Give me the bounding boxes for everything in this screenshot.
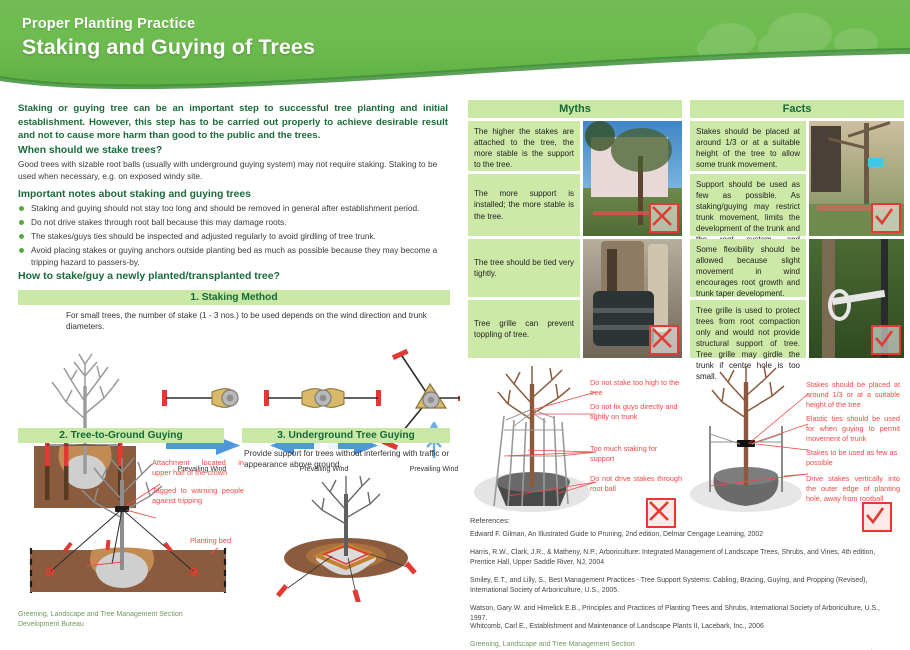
intro-paragraph: Staking or guying tree can be an importa… [18,102,448,143]
section-2-annotation-2-wrap: Tagged to warning people against trippin… [152,486,244,506]
cross-mark-icon [649,325,679,355]
myth-item-1: The higher the stakes are attached to th… [468,121,580,171]
section-1-title: 1. Staking Method [18,290,450,305]
bad-practice-cross-mark-icon [646,498,676,528]
underground-guying-diagram [244,472,450,602]
references-label: References: [470,516,510,525]
list-item: Do not drive stakes through root ball be… [18,216,454,228]
myth-item-3: The tree should be tied very tightly. [468,239,580,297]
reference-item-4: Watson, Gary W. and Himelick E.B., Princ… [470,604,898,624]
myth-photo-tall-stakes [583,121,682,236]
reference-item-2: Harris, R.W., Clark, J.R., & Matheny, N.… [470,548,898,568]
section-2-annotation-3: Planting bed [190,536,250,546]
check-mark-icon [871,203,901,233]
myths-panel-title: Myths [468,100,682,118]
left-footer-line-1: Greening, Landscape and Tree Management … [18,610,183,620]
section-3-caption: Provide support for trees without interf… [244,448,450,471]
fact-photo-correct-staking [809,121,904,236]
left-footer-line-2: Development Bureau [18,620,183,630]
section-3-title: 3. Underground Tree Guying [242,428,450,443]
right-footer: Greening, Landscape and Tree Management … [470,640,635,650]
section-2-annotation-3-wrap: Planting bed [190,536,250,546]
important-notes-list: Staking and guying should not stay too l… [18,202,454,270]
good-annotation-4: Drive stakes vertically into the outer e… [806,474,900,504]
good-practice-check-mark-icon [862,502,892,532]
fact-item-4: Tree grille is used to protect trees fro… [690,300,806,358]
left-footer: Greening, Landscape and Tree Management … [18,610,183,629]
list-item: Staking and guying should not stay too l… [18,202,454,214]
when-stake-heading: When should we stake trees? [18,145,448,156]
header-text-block: Proper Planting Practice Staking and Guy… [22,16,315,60]
bullet-text: Staking and guying should not stay too l… [31,203,419,213]
fact-item-3: Some flexibility should be allowed becau… [690,239,806,297]
bad-annotation-1: Do not stake too high to the tree [590,378,682,398]
bullet-dot-icon [19,234,24,239]
how-to-stake-heading: How to stake/guy a newly planted/transpl… [18,270,448,282]
facts-panel-title: Facts [690,100,904,118]
section-2-title: 2. Tree-to-Ground Guying [18,428,224,443]
good-annotation-3: Stakes to be used as few as possible [806,448,900,468]
reference-item-5: Whitcomb, Carl E., Establishment and Mai… [470,622,898,632]
bullet-text: Do not drive stakes through root ball be… [31,217,287,227]
good-annotation-1: Stakes should be placed at around 1/3 or… [806,380,900,410]
right-footer-line-1: Greening, Landscape and Tree Management … [470,640,635,650]
right-column: Myths Facts The higher the stakes are at… [462,92,910,650]
section-2-annotation-1: Attachment located in upper half of the … [152,458,244,478]
list-item: Avoid placing stakes or guying anchors o… [18,244,454,269]
myth-item-2: The more support is installed; the more … [468,174,580,236]
fact-photo-flexible-tie [809,239,904,358]
reference-item-1: Edward F. Gilman, An Illustrated Guide t… [470,530,898,540]
list-item: The stakes/guys ties should be inspected… [18,230,454,242]
bullet-dot-icon [19,206,24,211]
bad-annotation-3: Too much staking for support [590,444,682,464]
myth-photo-tied-tightly [583,239,682,358]
myth-item-4: Tree grille can prevent toppling of tree… [468,300,580,358]
left-column: Staking or guying tree can be an importa… [0,92,462,650]
section-2-annotation-2: Tagged to warning people against trippin… [152,486,244,506]
cross-mark-icon [649,203,679,233]
section-2-annotation-1-wrap: Attachment located in upper half of the … [152,458,244,478]
bullet-dot-icon [19,220,24,225]
poster: Proper Planting Practice Staking and Guy… [0,0,910,650]
bullet-dot-icon [19,248,24,253]
good-annotation-2: Elastic ties should be used for when guy… [806,414,900,444]
bad-annotation-4: Do not drive stakes through root ball [590,474,682,494]
header-subtitle: Proper Planting Practice [22,16,315,32]
important-notes-heading: Important notes about staking and guying… [18,189,448,200]
reference-item-3: Smiley, E.T., and Lilly, S., Best Manage… [470,576,898,596]
page-header: Proper Planting Practice Staking and Guy… [0,0,910,92]
when-stake-body: Good trees with sizable root balls (usua… [18,158,450,183]
fact-item-1: Stakes should be placed at around 1/3 or… [690,121,806,171]
bullet-text: Avoid placing stakes or guying anchors o… [31,245,437,267]
bad-annotation-2: Do not fix guys directly and tightly on … [590,402,682,422]
bullet-text: The stakes/guys ties should be inspected… [31,231,376,241]
page-title: Staking and Guying of Trees [22,35,315,60]
check-mark-icon [871,325,901,355]
fact-item-2: Support should be used as few as possibl… [690,174,806,236]
